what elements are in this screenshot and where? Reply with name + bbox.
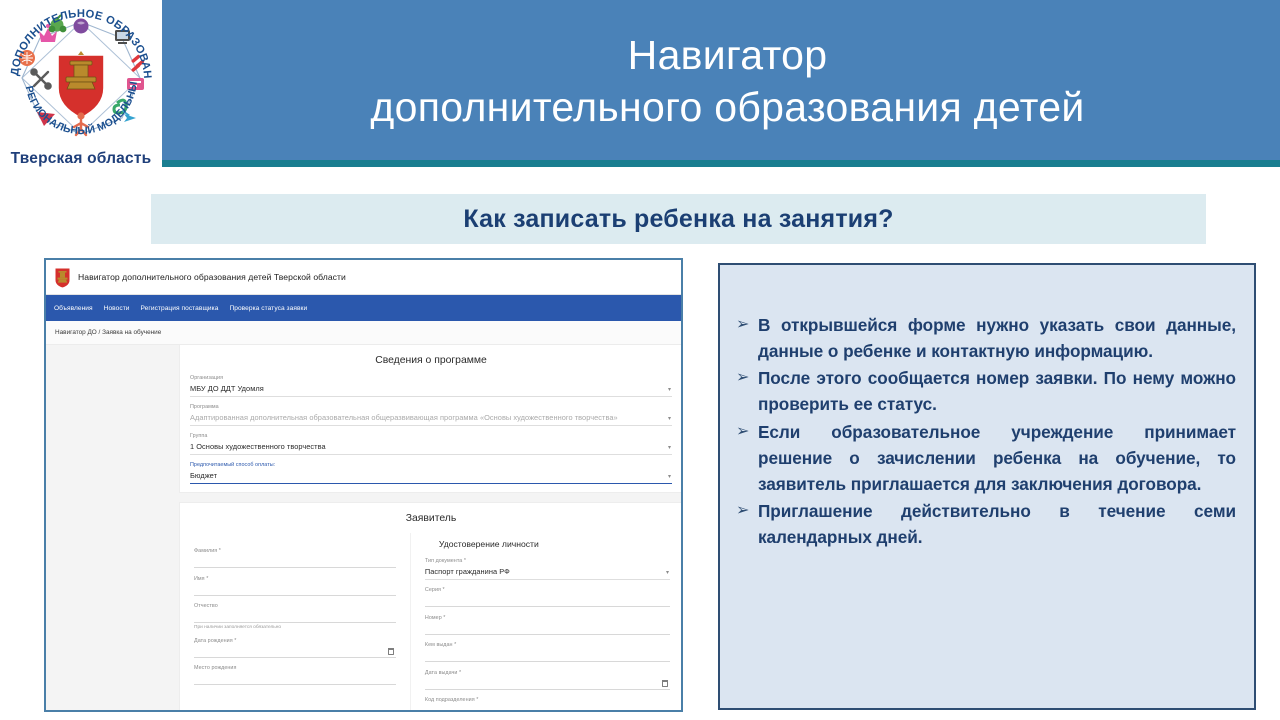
arrow-bullet-icon: ➢ [736, 312, 758, 337]
logo: ДОПОЛНИТЕЛЬНОЕ ОБРАЗОВАНИЕ ДЕТЕЙ РЕГИОНА… [0, 0, 162, 172]
chevron-down-icon[interactable]: ▾ [668, 445, 671, 451]
field-last-name[interactable]: Фамилия * [194, 548, 396, 568]
site-title: Навигатор дополнительного образования де… [78, 272, 346, 282]
field-group-label: Группа [190, 433, 672, 439]
subtitle-text: Как записать ребенка на занятия? [463, 205, 893, 234]
field-document-type-label: Тип документа * [425, 558, 670, 564]
field-passport-series[interactable]: Серия * [425, 587, 670, 607]
field-department-code-label: Код подразделения * [425, 697, 670, 703]
applicant-card: Заявитель Фамилия * Имя * [179, 502, 683, 712]
field-passport-number-label: Номер * [425, 615, 670, 621]
nav-item-application-status[interactable]: Проверка статуса заявки [229, 305, 307, 312]
field-department-code-input[interactable]: ___-___ [425, 706, 670, 712]
field-issue-date-input[interactable] [425, 679, 670, 690]
field-birth-place-input[interactable] [194, 674, 396, 685]
program-info-card: Сведения о программе Организация МБУ ДО … [179, 345, 683, 493]
field-first-name-label: Имя * [194, 576, 396, 582]
chevron-down-icon[interactable]: ▾ [668, 387, 671, 393]
field-patronymic-hint: При наличии заполняется обязательно [194, 625, 396, 630]
field-patronymic[interactable]: Отчество При наличии заполняется обязате… [194, 603, 396, 630]
field-first-name-input[interactable] [194, 585, 396, 596]
page-title: Навигатор дополнительного образования де… [190, 14, 1265, 148]
field-payment-method-label: Предпочитаемый способ оплаты: [190, 462, 672, 468]
note-text-2: После этого сообщается номер заявки. По … [758, 365, 1236, 417]
calendar-icon[interactable] [662, 680, 668, 687]
list-item: ➢ В открывшейся форме нужно указать свои… [736, 312, 1236, 364]
header-underline [160, 160, 1280, 167]
field-payment-method[interactable]: Предпочитаемый способ оплаты: Бюджет ▾ [190, 462, 672, 484]
field-issued-by-label: Кем выдан * [425, 642, 670, 648]
field-issue-date[interactable]: Дата выдачи * [425, 670, 670, 690]
nav-item-provider-registration[interactable]: Регистрация поставщика [141, 305, 219, 312]
field-issued-by[interactable]: Кем выдан * [425, 642, 670, 662]
field-organization-label: Организация [190, 375, 672, 381]
field-birth-date-input[interactable] [194, 647, 396, 658]
field-birth-place-label: Место рождения [194, 665, 396, 671]
note-text-1: В открывшейся форме нужно указать свои д… [758, 312, 1236, 364]
field-program-label: Программа [190, 404, 672, 410]
field-department-code[interactable]: Код подразделения * ___-___ [425, 697, 670, 712]
field-birth-date-label: Дата рождения * [194, 638, 396, 644]
note-text-3: Если образовательное учреждение принимае… [758, 419, 1236, 497]
field-group[interactable]: Группа 1 Основы художественного творчест… [190, 433, 672, 455]
field-issue-date-label: Дата выдачи * [425, 670, 670, 676]
field-last-name-input[interactable] [194, 557, 396, 568]
field-patronymic-input[interactable] [194, 612, 396, 623]
field-passport-series-label: Серия * [425, 587, 670, 593]
applicant-personal-column: Фамилия * Имя * Отчество При наличии за [180, 533, 411, 712]
field-program[interactable]: Программа Адаптированная дополнительная … [190, 404, 672, 426]
field-birth-date[interactable]: Дата рождения * [194, 638, 396, 658]
field-organization[interactable]: Организация МБУ ДО ДДТ Удомля ▾ [190, 375, 672, 397]
nav-item-announcements[interactable]: Объявления [54, 305, 93, 312]
site-header: Навигатор дополнительного образования де… [46, 260, 681, 295]
arrow-bullet-icon: ➢ [736, 365, 758, 390]
chevron-down-icon[interactable]: ▾ [668, 416, 671, 422]
form-area: Сведения о программе Организация МБУ ДО … [46, 345, 681, 710]
field-passport-series-input[interactable] [425, 596, 670, 607]
logo-emblem-icon: ДОПОЛНИТЕЛЬНОЕ ОБРАЗОВАНИЕ ДЕТЕЙ РЕГИОНА… [0, 0, 162, 150]
logo-caption: Тверская область [0, 150, 162, 168]
field-payment-method-value: Бюджет [190, 471, 672, 484]
calendar-icon[interactable] [388, 648, 394, 655]
field-issued-by-input[interactable] [425, 651, 670, 662]
arrow-bullet-icon: ➢ [736, 498, 758, 523]
chevron-down-icon[interactable]: ▾ [668, 474, 671, 480]
field-program-value: Адаптированная дополнительная образовате… [190, 413, 672, 426]
field-birth-place[interactable]: Место рождения [194, 665, 396, 685]
field-passport-number[interactable]: Номер * [425, 615, 670, 635]
list-item: ➢ После этого сообщается номер заявки. П… [736, 365, 1236, 417]
applicant-card-heading: Заявитель [180, 503, 682, 533]
notes-panel: ➢ В открывшейся форме нужно указать свои… [718, 263, 1256, 710]
field-group-value: 1 Основы художественного творчества [190, 442, 672, 455]
field-department-code-mask: ___-___ [425, 709, 449, 712]
list-item: ➢ Приглашение действительно в течение се… [736, 498, 1236, 550]
field-last-name-label: Фамилия * [194, 548, 396, 554]
breadcrumb-text: Навигатор ДО / Заявка на обучение [55, 329, 161, 336]
applicant-identity-column: Удостоверение личности Тип документа * П… [411, 533, 682, 712]
field-passport-number-input[interactable] [425, 624, 670, 635]
breadcrumb: Навигатор ДО / Заявка на обучение [46, 321, 681, 345]
slide-root: Навигатор дополнительного образования де… [0, 0, 1280, 720]
nav-item-news[interactable]: Новости [104, 305, 130, 312]
program-card-heading: Сведения о программе [180, 345, 682, 375]
arrow-bullet-icon: ➢ [736, 419, 758, 444]
chevron-down-icon[interactable]: ▾ [666, 570, 669, 576]
browser-screenshot: Навигатор дополнительного образования де… [44, 258, 683, 712]
field-organization-value: МБУ ДО ДДТ Удомля [190, 384, 672, 397]
identity-section-heading: Удостоверение личности [425, 533, 670, 558]
list-item: ➢ Если образовательное учреждение приним… [736, 419, 1236, 497]
note-text-4: Приглашение действительно в течение семи… [758, 498, 1236, 550]
field-first-name[interactable]: Имя * [194, 576, 396, 596]
field-document-type-value: Паспорт гражданина РФ [425, 567, 670, 580]
field-document-type[interactable]: Тип документа * Паспорт гражданина РФ ▾ [425, 558, 670, 580]
site-nav: Объявления Новости Регистрация поставщик… [46, 295, 681, 321]
coat-of-arms-icon [54, 267, 71, 288]
subtitle-bar: Как записать ребенка на занятия? [151, 194, 1206, 244]
field-patronymic-label: Отчество [194, 603, 396, 609]
